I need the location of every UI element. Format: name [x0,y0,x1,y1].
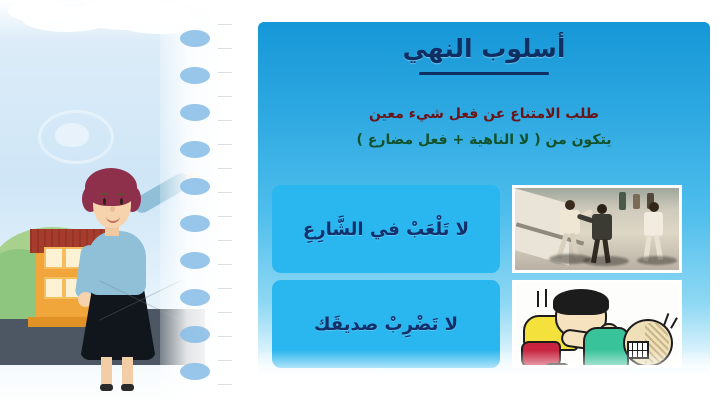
teacher-hair [85,168,137,206]
composition-line: يتكون من ( لا الناهية + فعل مضارع ) [258,132,710,148]
lesson-slide: أسلوب النهي طلب الامتناع عن فعل شيء معين… [258,22,710,384]
ruler-tick [218,216,232,217]
blue-dot [180,289,210,306]
example-text-box: لا تَلْعَبْ في الشَّارِعِ [272,185,500,273]
blue-dot-column [178,0,218,405]
blue-dot [180,67,210,84]
background-child [633,194,640,209]
background-child [619,192,626,210]
teacher-eyebrow [100,193,108,195]
cloud-icon [8,0,68,22]
blue-dot [180,326,210,343]
ruler-tick [218,288,232,289]
teacher-shoe [100,384,113,391]
blue-dot [180,30,210,47]
blue-dot [180,178,210,195]
ruler-tick [218,24,232,25]
ruler-tick [218,336,232,337]
teacher-shoe [121,384,134,391]
teacher-eyebrow [117,193,125,195]
figure-shadow [637,256,677,265]
boy-black-hair [553,289,609,315]
teacher-leg [101,357,112,387]
teacher-eye [120,198,123,205]
blue-dot [180,252,210,269]
watermark-logo-icon [38,110,114,164]
motion-line [545,289,547,307]
left-illustration-panel [0,0,250,405]
teacher-leg [122,357,133,387]
ruler-tick [218,312,232,313]
slide-bottom-fade [258,350,710,384]
ruler-tick [218,264,232,265]
ruler-tick [218,120,232,121]
ruler-tick [218,168,232,169]
building-window [44,277,64,299]
ruler-tick [218,240,232,241]
ruler-ticks [218,0,250,405]
blue-dot [180,215,210,232]
ruler-tick [218,144,232,145]
motion-line [537,291,539,307]
building-window [44,247,64,269]
teacher-eye [103,198,106,205]
slide-screenshot: أسلوب النهي طلب الامتناع عن فعل شيء معين… [0,0,720,405]
example-text: لا تَلْعَبْ في الشَّارِعِ [303,219,469,240]
teacher-torso [88,231,146,295]
example-row: لا تَلْعَبْ في الشَّارِعِ [272,185,696,273]
example-text: لا تَضْرِبْ صديقَك [314,314,458,335]
ruler-tick [218,384,232,385]
children-playing-in-street-photo [512,185,682,273]
blue-dot [180,141,210,158]
definition-line: طلب الامتناع عن فعل شيء معين [258,106,710,122]
ruler-tick [218,360,232,361]
blue-dot [180,363,210,380]
teacher-nose [110,206,115,212]
ruler-tick [218,48,232,49]
page-title: أسلوب النهي [258,34,710,63]
ruler-tick [218,96,232,97]
figure-shadow [583,256,629,266]
ruler-tick [218,192,232,193]
ruler-tick [218,72,232,73]
title-underline [419,72,549,75]
blue-dot [180,104,210,121]
